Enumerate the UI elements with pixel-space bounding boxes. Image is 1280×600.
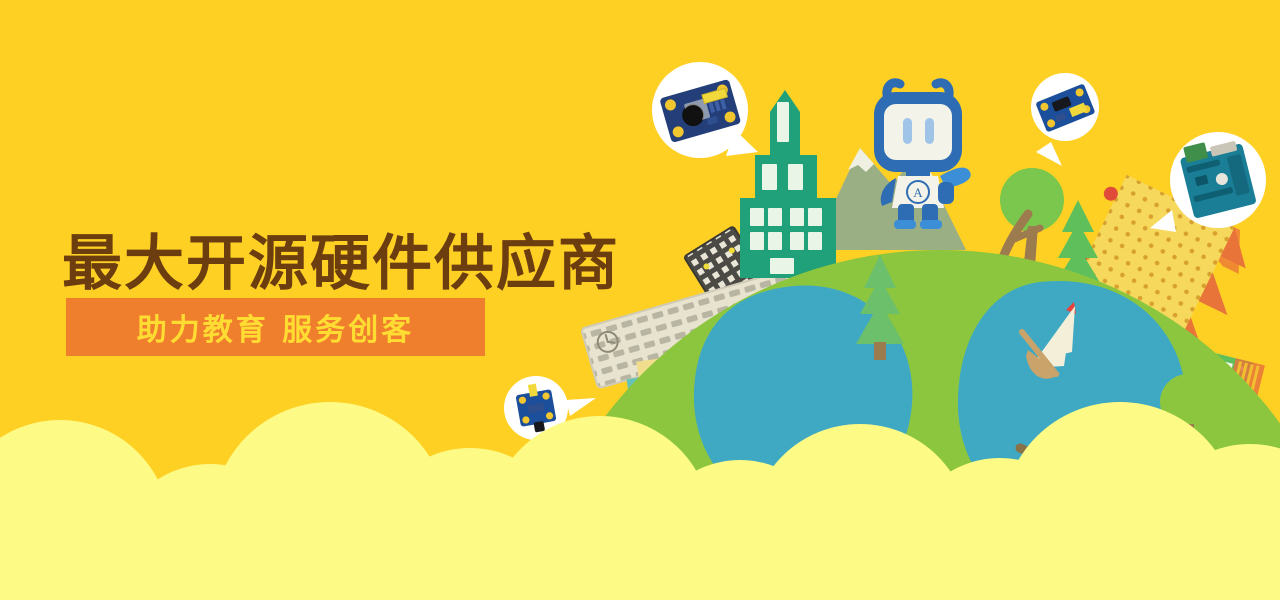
hero-banner: A bbox=[0, 0, 1280, 600]
tagline-badge-label: 助力教育 服务创客 bbox=[66, 298, 485, 356]
svg-text:A: A bbox=[913, 185, 923, 200]
page-title: 最大开源硬件供应商 bbox=[62, 228, 620, 300]
copy-block: 最大开源硬件供应商 助力教育 服务创客 bbox=[0, 0, 640, 600]
tagline-badge: 助力教育 服务创客 bbox=[66, 298, 485, 356]
